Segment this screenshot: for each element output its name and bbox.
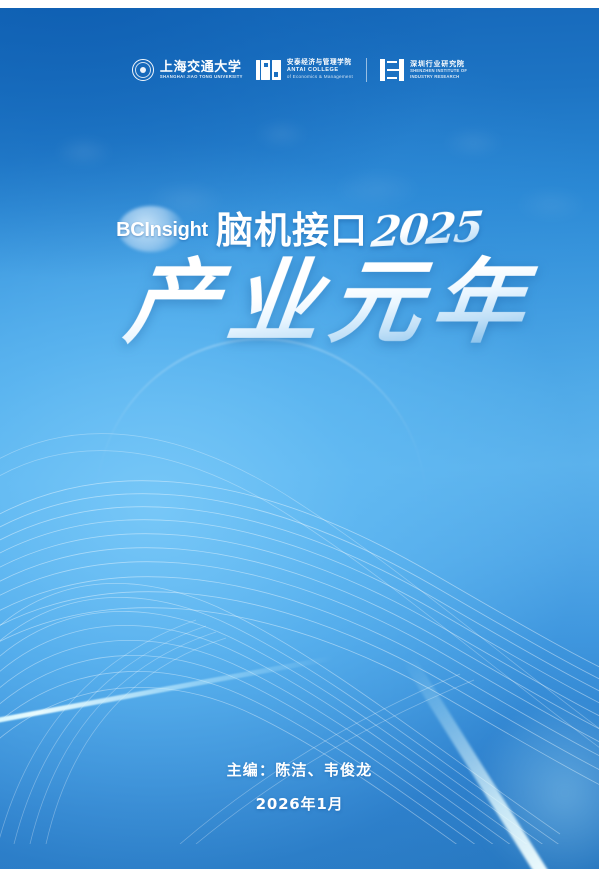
logo-institute-en2: INDUSTRY RESEARCH <box>410 75 467 79</box>
bcinsight-suffix: nsight <box>150 219 208 241</box>
logo-sjtu-text: 上海交通大学 SHANGHAI JIAO TONG UNIVERSITY <box>160 61 243 79</box>
logo-industry-institute: 深圳行业研究院 SHENZHEN INSTITUTE OF INDUSTRY R… <box>380 59 467 81</box>
masthead-line-two: 产业元年 <box>0 254 599 352</box>
institute-monogram-icon <box>380 59 404 81</box>
chief-editors: 主编：陈洁、韦俊龙 <box>0 763 599 778</box>
logo-divider <box>366 58 367 82</box>
report-year: 2025 <box>369 206 483 254</box>
publication-date: 2026年1月 <box>0 797 599 812</box>
page-viewer: 上海交通大学 SHANGHAI JIAO TONG UNIVERSITY 安泰经… <box>0 0 609 869</box>
bcinsight-brand-badge: BCInsight <box>116 207 208 253</box>
bcinsight-prefix: BCI <box>116 219 150 241</box>
logo-acem-cn: 安泰经济与管理学院 <box>287 60 353 67</box>
logo-sjtu-cn: 上海交通大学 <box>160 61 243 74</box>
cover-page: 上海交通大学 SHANGHAI JIAO TONG UNIVERSITY 安泰经… <box>0 8 599 869</box>
logo-sjtu: 上海交通大学 SHANGHAI JIAO TONG UNIVERSITY <box>132 59 243 81</box>
logo-institute-en1: SHENZHEN INSTITUTE OF <box>410 69 467 73</box>
bcinsight-brand-label: BCInsight <box>116 220 208 240</box>
cover-credits: 主编：陈洁、韦俊龙 2026年1月 <box>0 763 599 812</box>
report-topic-title: 脑机接口 <box>216 212 368 249</box>
logo-institute-cn: 深圳行业研究院 <box>410 61 467 68</box>
cover-masthead: BCInsight 脑机接口 2025 产业元年 <box>0 204 599 352</box>
logo-institute-text: 深圳行业研究院 SHENZHEN INSTITUTE OF INDUSTRY R… <box>410 61 467 79</box>
logo-acem-en1: ANTAI COLLEGE <box>287 68 353 74</box>
logo-acem: 安泰经济与管理学院 ANTAI COLLEGE of Economics & M… <box>256 60 353 80</box>
logo-acem-en2: of Economics & Management <box>287 75 353 80</box>
report-slogan: 产业元年 <box>120 254 540 352</box>
institution-logo-row: 上海交通大学 SHANGHAI JIAO TONG UNIVERSITY 安泰经… <box>0 58 599 82</box>
logo-acem-text: 安泰经济与管理学院 ANTAI COLLEGE of Economics & M… <box>287 60 353 80</box>
acem-monogram-icon <box>256 60 281 80</box>
university-seal-icon <box>132 59 154 81</box>
logo-sjtu-en: SHANGHAI JIAO TONG UNIVERSITY <box>160 75 243 79</box>
